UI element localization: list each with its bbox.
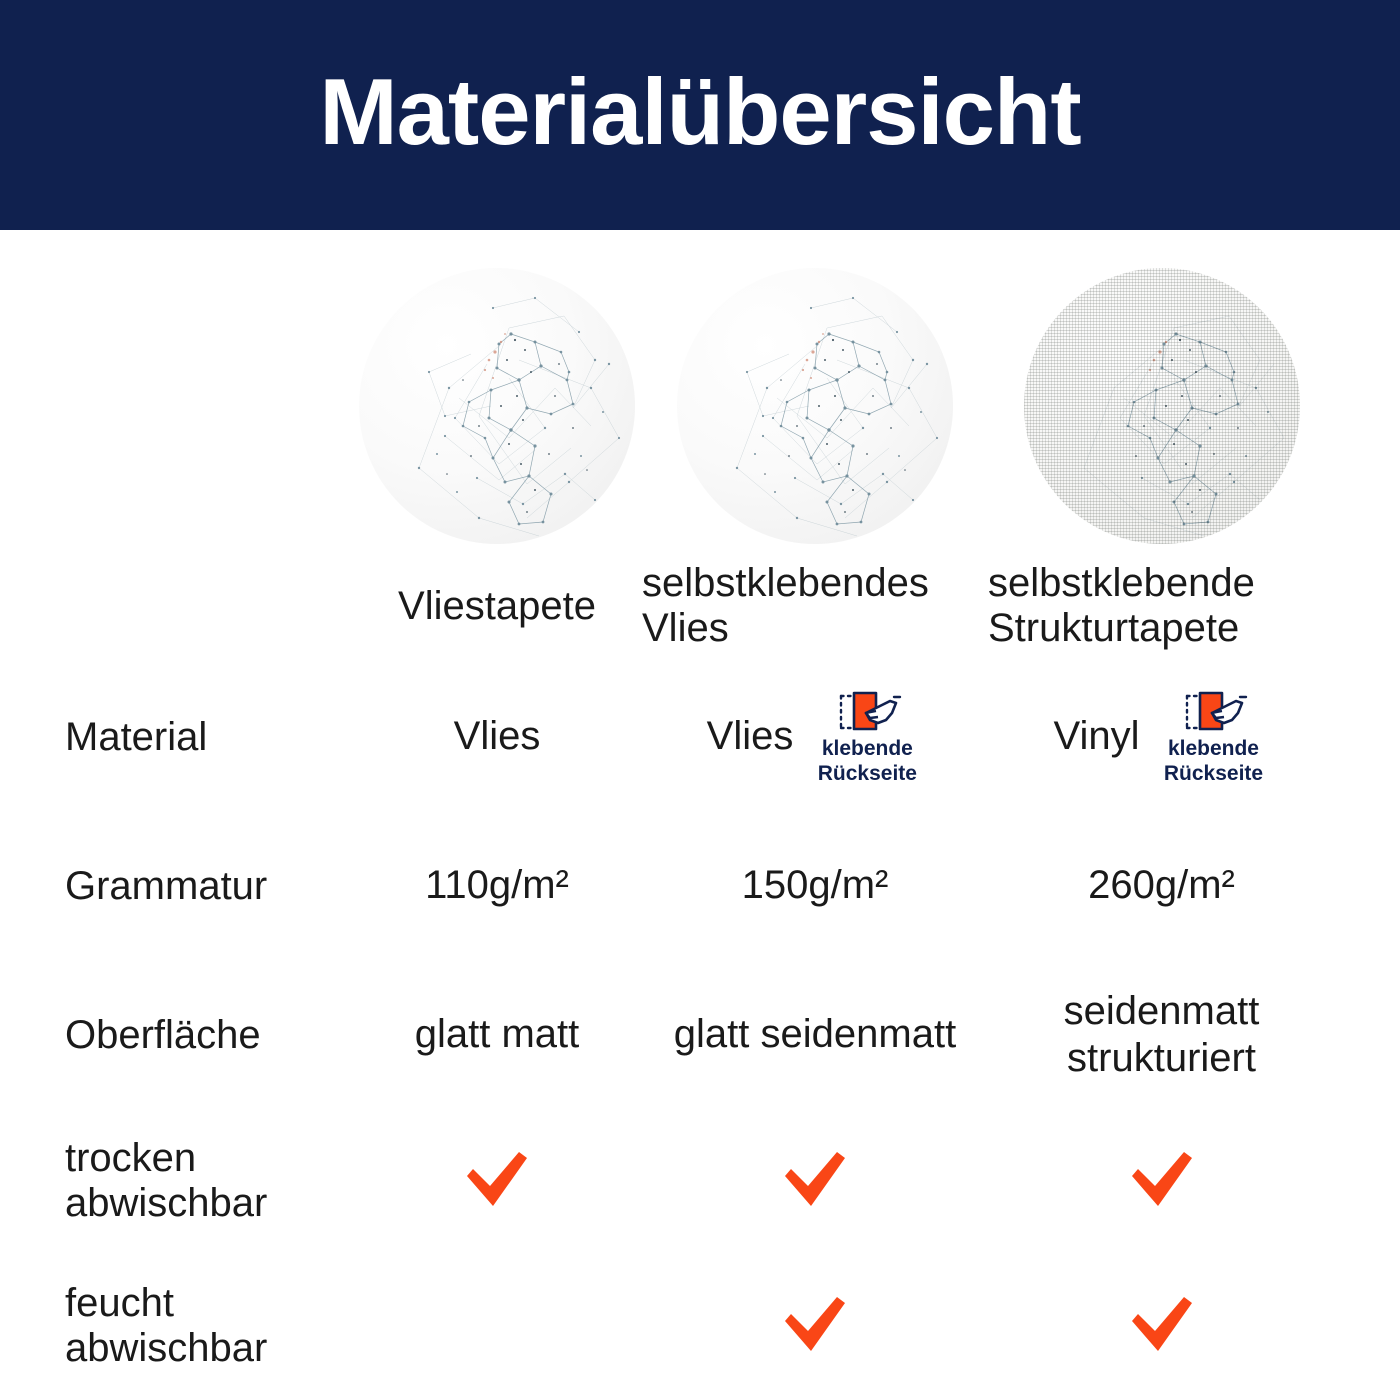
row-label-grammatur: Grammatur xyxy=(65,812,352,960)
table-header-row: Vliestapete selbstklebendes Vlies selbst… xyxy=(65,550,1335,662)
cell-material-value-text: Vlies xyxy=(707,713,794,760)
adhesive-badge-line1: klebende xyxy=(822,737,913,760)
cell-trocken-selbstklebende-strukturtapete xyxy=(988,1110,1335,1252)
vliestapete-swatch xyxy=(359,268,635,544)
product-swatch-cell-1 xyxy=(352,262,642,550)
row-label-material: Material xyxy=(65,662,352,812)
table-row-grammatur: Grammatur 110g/m² 150g/m² 260g/m² xyxy=(65,812,1335,960)
cell-feucht-selbstklebende-strukturtapete xyxy=(988,1252,1335,1400)
adhesive-badge-line2: Rückseite xyxy=(1164,762,1263,785)
product-swatch-cell-2 xyxy=(642,262,988,550)
column-header-selbstklebende-strukturtapete: selbstklebende Strukturtapete xyxy=(988,550,1335,662)
peel-adhesive-backing-icon xyxy=(1178,687,1248,735)
check-icon xyxy=(1128,1150,1196,1212)
row-label-feucht-abwischbar: feucht abwischbar xyxy=(65,1252,352,1400)
cell-feucht-selbstklebendes-vlies xyxy=(642,1252,988,1400)
strukturtapete-swatch xyxy=(1024,268,1300,544)
row-label-trocken-abwischbar: trocken abwischbar xyxy=(65,1110,352,1252)
product-swatch-strip xyxy=(352,262,1335,550)
row-label-oberflaeche: Oberfläche xyxy=(65,960,352,1110)
column-header-vliestapete: Vliestapete xyxy=(352,550,642,662)
empty-indicator xyxy=(352,1252,642,1400)
network-figure-artwork-icon xyxy=(359,268,635,544)
check-icon xyxy=(781,1295,849,1357)
peel-adhesive-backing-icon xyxy=(832,687,902,735)
table-row-trocken-abwischbar: trocken abwischbar xyxy=(65,1110,1335,1252)
check-icon xyxy=(781,1150,849,1212)
cell-material-selbstklebende-strukturtapete: Vinyl xyxy=(988,662,1335,812)
table-row-feucht-abwischbar: feucht abwischbar xyxy=(65,1252,1335,1400)
cell-material-vliestapete: Vlies xyxy=(352,662,642,812)
table-row-material: Material Vlies Vlies xyxy=(65,662,1335,812)
selbstklebendes-vlies-swatch xyxy=(677,268,953,544)
table-row-oberflaeche: Oberfläche glatt matt glatt seidenmatt s… xyxy=(65,960,1335,1110)
adhesive-badge-line1: klebende xyxy=(1168,737,1259,760)
adhesive-badge-text: klebende Rückseite xyxy=(1164,737,1263,787)
cell-grammatur-vliestapete: 110g/m² xyxy=(352,812,642,960)
material-comparison-table: Vliestapete selbstklebendes Vlies selbst… xyxy=(65,550,1335,1400)
cell-trocken-vliestapete xyxy=(352,1110,642,1252)
page-title: Materialübersicht xyxy=(319,65,1080,165)
header-band: Materialübersicht xyxy=(0,0,1400,230)
adhesive-backing-badge: klebende Rückseite xyxy=(811,687,923,787)
network-figure-artwork-icon xyxy=(1024,268,1300,544)
cell-oberflaeche-selbstklebendes-vlies: glatt seidenmatt xyxy=(642,960,988,1110)
cell-feucht-vliestapete xyxy=(352,1252,642,1400)
cell-material-value-text: Vinyl xyxy=(1054,713,1140,760)
material-overview-page: Materialübersicht xyxy=(0,0,1400,1400)
network-figure-artwork-icon xyxy=(677,268,953,544)
bottom-spacer xyxy=(0,1382,1400,1400)
check-icon xyxy=(463,1150,531,1212)
adhesive-badge-text: klebende Rückseite xyxy=(818,737,917,787)
adhesive-badge-line2: Rückseite xyxy=(818,762,917,785)
table-corner-cell xyxy=(65,550,352,662)
adhesive-backing-badge: klebende Rückseite xyxy=(1157,687,1269,787)
cell-trocken-selbstklebendes-vlies xyxy=(642,1110,988,1252)
cell-oberflaeche-selbstklebende-strukturtapete: seidenmatt strukturiert xyxy=(988,960,1335,1110)
cell-grammatur-selbstklebende-strukturtapete: 260g/m² xyxy=(988,812,1335,960)
cell-oberflaeche-vliestapete: glatt matt xyxy=(352,960,642,1110)
column-header-selbstklebendes-vlies: selbstklebendes Vlies xyxy=(642,550,988,662)
cell-grammatur-selbstklebendes-vlies: 150g/m² xyxy=(642,812,988,960)
product-swatch-cell-3 xyxy=(988,262,1335,550)
check-icon xyxy=(1128,1295,1196,1357)
cell-material-selbstklebendes-vlies: Vlies xyxy=(642,662,988,812)
